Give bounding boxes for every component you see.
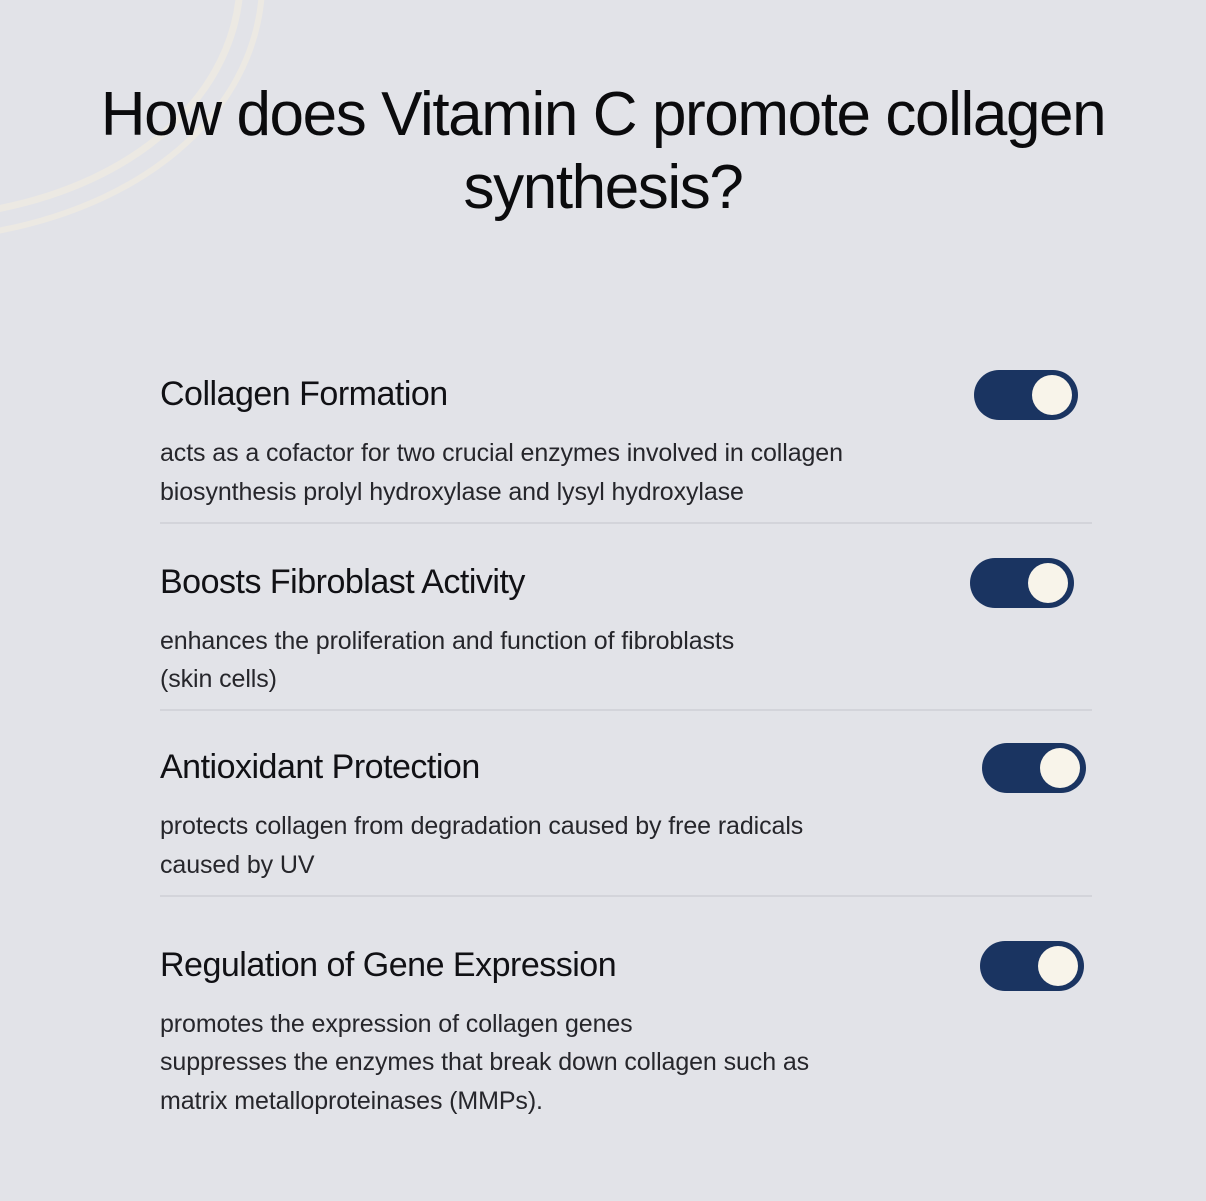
feature-title: Boosts Fibroblast Activity — [160, 564, 525, 601]
row-divider — [160, 522, 1092, 524]
toggle-knob-icon — [1028, 563, 1068, 603]
page-title: How does Vitamin C promote collagen synt… — [0, 78, 1206, 224]
regulation-of-gene-expression-toggle[interactable] — [980, 941, 1084, 991]
row-divider — [160, 709, 1092, 711]
list-item[interactable]: Boosts Fibroblast Activity enhances the … — [160, 556, 1092, 718]
boosts-fibroblast-activity-toggle[interactable] — [970, 558, 1074, 608]
feature-description: promotes the expression of collagen gene… — [160, 1005, 1092, 1121]
list-item[interactable]: Regulation of Gene Expression promotes t… — [160, 939, 1092, 1127]
feature-row-header: Regulation of Gene Expression — [160, 939, 1092, 993]
toggle-knob-icon — [1040, 748, 1080, 788]
list-item[interactable]: Collagen Formation acts as a cofactor fo… — [160, 368, 1092, 532]
toggle-knob-icon — [1038, 946, 1078, 986]
toggle-knob-icon — [1032, 375, 1072, 415]
feature-title: Antioxidant Protection — [160, 749, 480, 786]
row-divider — [160, 895, 1092, 897]
feature-description: protects collagen from degradation cause… — [160, 807, 1092, 885]
title-block: How does Vitamin C promote collagen synt… — [0, 78, 1206, 224]
feature-description: acts as a cofactor for two crucial enzym… — [160, 434, 1092, 512]
list-item[interactable]: Antioxidant Protection protects collagen… — [160, 741, 1092, 903]
feature-row-header: Boosts Fibroblast Activity — [160, 556, 1092, 610]
collagen-formation-toggle[interactable] — [974, 370, 1078, 420]
antioxidant-protection-toggle[interactable] — [982, 743, 1086, 793]
feature-description: enhances the proliferation and function … — [160, 622, 1092, 700]
feature-list: Collagen Formation acts as a cofactor fo… — [160, 368, 1092, 1127]
feature-row-header: Collagen Formation — [160, 368, 1092, 422]
feature-title: Regulation of Gene Expression — [160, 947, 616, 984]
feature-row-header: Antioxidant Protection — [160, 741, 1092, 795]
feature-title: Collagen Formation — [160, 376, 448, 413]
